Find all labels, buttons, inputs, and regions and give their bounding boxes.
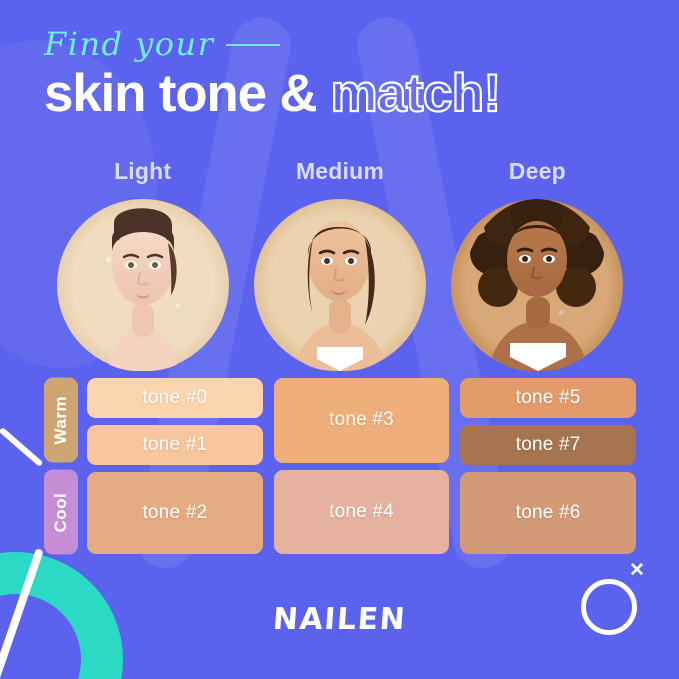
model-photo-medium [241, 196, 438, 374]
model-photo-deep [439, 196, 636, 374]
column-header-medium: Medium [241, 158, 438, 185]
tone-swatch-7[interactable]: tone #7 [460, 425, 636, 465]
side-tab-cool[interactable]: Cool [44, 470, 78, 555]
x-mark-icon: ✕ [629, 563, 645, 579]
tone-swatch-5[interactable]: tone #5 [460, 378, 636, 418]
tone-swatch-4[interactable]: tone #4 [274, 470, 450, 555]
column-header-light: Light [44, 158, 241, 185]
tone-columns: tone #0 tone #1 tone #2 tone #3 tone #4 … [87, 378, 636, 554]
tone-column-medium: tone #3 tone #4 [274, 378, 450, 554]
headline-dash [226, 44, 280, 46]
headline-script-text: Find your [44, 25, 214, 63]
white-stroke-upper [0, 427, 43, 467]
tone-swatch-2[interactable]: tone #2 [87, 472, 263, 554]
tone-swatch-6[interactable]: tone #6 [460, 472, 636, 554]
headline-script: Find your [44, 28, 644, 60]
brand-logo: NAILEN [0, 602, 679, 637]
portrait-medium [265, 199, 415, 371]
portrait-medium-illustration [265, 199, 415, 371]
headline-block: Find your skin tone & match! [44, 28, 644, 122]
tone-side-tabs: Warm Cool [44, 378, 78, 554]
skin-tone-poster: ✕ Find your skin tone & match! Light Med… [0, 0, 679, 679]
tone-grid: Warm Cool tone #0 tone #1 tone #2 tone #… [44, 378, 636, 554]
side-tab-warm[interactable]: Warm [44, 378, 78, 463]
model-photos-row [44, 196, 636, 374]
tone-column-deep: tone #5 tone #7 tone #6 [460, 378, 636, 554]
column-header-deep: Deep [439, 158, 636, 185]
headline-title-solid: skin tone & [44, 66, 316, 122]
portrait-light [68, 199, 218, 371]
tone-swatch-0[interactable]: tone #0 [87, 378, 263, 418]
portrait-light-illustration [68, 199, 218, 371]
tone-swatch-1[interactable]: tone #1 [87, 425, 263, 465]
model-photo-light [44, 196, 241, 374]
headline-title-row: skin tone & match! [44, 66, 644, 122]
headline-title-outline: match! [330, 66, 500, 122]
portrait-deep [462, 199, 612, 371]
portrait-deep-illustration [462, 199, 612, 371]
column-headers: Light Medium Deep [44, 158, 636, 185]
tone-swatch-3[interactable]: tone #3 [274, 378, 450, 463]
tone-column-light: tone #0 tone #1 tone #2 [87, 378, 263, 554]
